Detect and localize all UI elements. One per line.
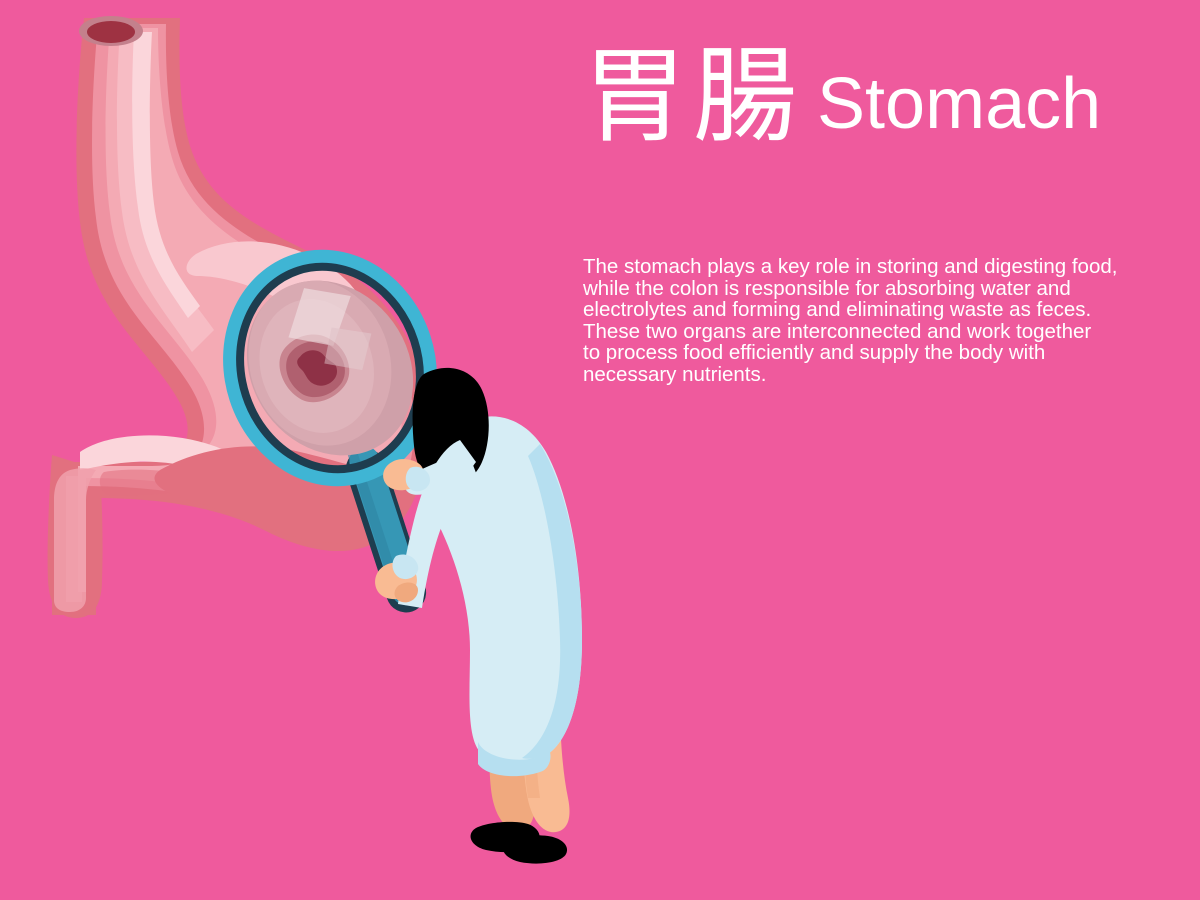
esophagus-lumen	[87, 21, 135, 43]
poster-canvas: 胃腸 Stomach The stomach plays a key role …	[0, 0, 1200, 900]
title-english: Stomach	[817, 63, 1101, 145]
title-block: 胃腸 Stomach	[583, 42, 1143, 151]
description-paragraph: The stomach plays a key role in storing …	[583, 256, 1131, 385]
title-japanese: 胃腸	[583, 42, 803, 151]
